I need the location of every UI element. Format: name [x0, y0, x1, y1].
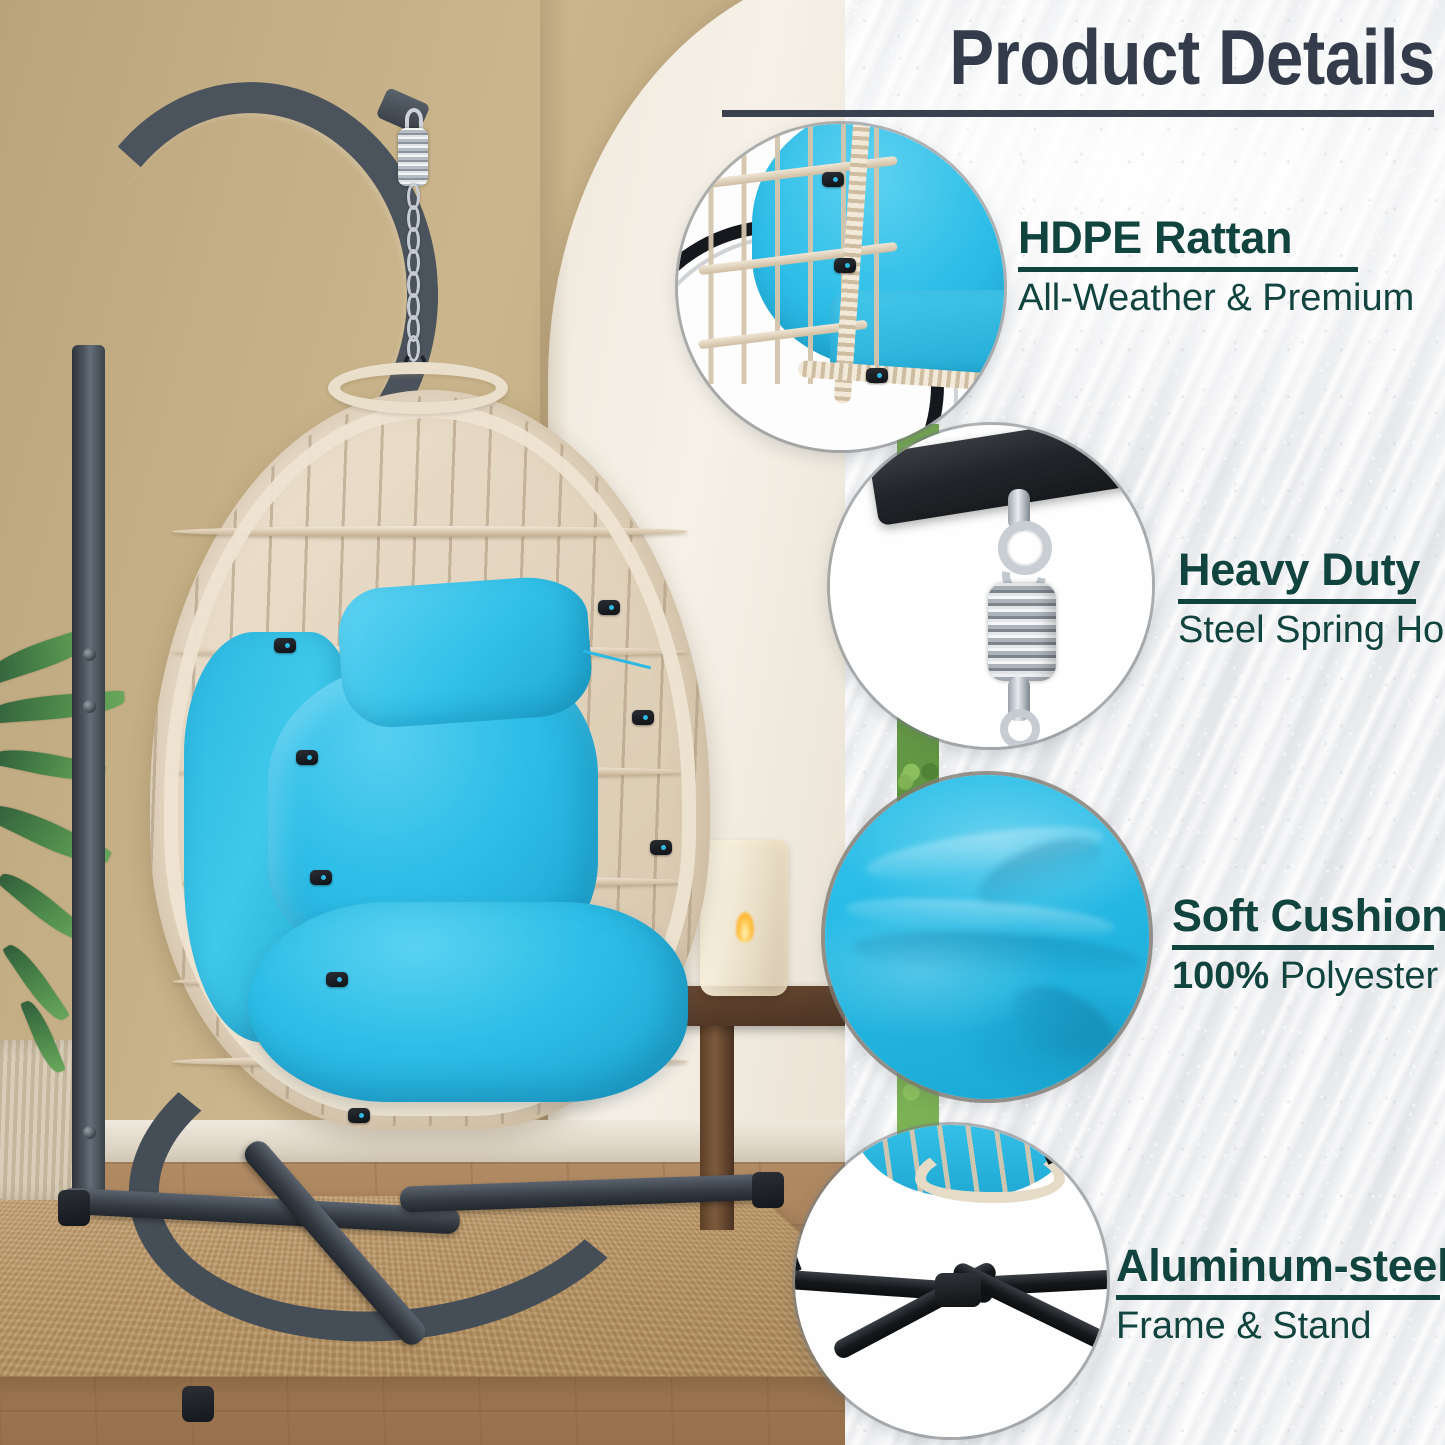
spring-icon	[988, 583, 1056, 681]
feature-text-aluminum-steel: Aluminum-steel Frame & Stand	[1116, 1242, 1445, 1347]
callout-image-aluminum-steel-frame	[795, 1125, 1107, 1437]
stand-foot	[58, 1190, 90, 1226]
feature-subtitle: Frame & Stand	[1116, 1306, 1445, 1348]
stand-foot	[182, 1386, 214, 1422]
callout-image-heavy-duty-hook	[830, 425, 1152, 747]
feature-heading: Soft Cushion	[1172, 892, 1445, 941]
feature-text-hdpe-rattan: HDPE Rattan All-Weather & Premium	[1018, 214, 1414, 319]
feature-subtitle: Steel Spring Hook	[1178, 610, 1445, 652]
chair-top-ring	[328, 362, 508, 414]
feature-text-soft-cushion: Soft Cushion 100% Polyester	[1172, 892, 1445, 997]
page-title-text: Product Details	[803, 12, 1435, 103]
stand-screw	[83, 700, 96, 713]
rattan-clip	[834, 258, 856, 273]
rattan-clip	[598, 600, 620, 615]
feature-heading: HDPE Rattan	[1018, 214, 1414, 263]
rattan-clip	[326, 972, 348, 987]
product-details-infographic: Product Details HDPE Rattan All-Weather …	[0, 0, 1445, 1445]
chain	[404, 183, 422, 361]
stand-vertical-post	[72, 345, 105, 1205]
stand-foot	[752, 1172, 784, 1208]
cushion-headrest-pillow	[335, 573, 594, 730]
feature-subtitle: 100% Polyester	[1172, 956, 1445, 998]
spring-icon	[398, 128, 428, 186]
rattan-clip	[866, 368, 888, 383]
feature-heading: Aluminum-steel	[1116, 1242, 1445, 1291]
feature-heading-underline	[1018, 267, 1358, 272]
base-center-hub	[935, 1273, 981, 1307]
callout-image-soft-cushion	[825, 775, 1149, 1099]
feature-heading: Heavy Duty	[1178, 546, 1445, 595]
feature-subtitle-rest: Polyester	[1269, 955, 1438, 997]
callout-image-hdpe-rattan	[678, 124, 1004, 450]
spring-lower-ring	[1000, 709, 1040, 747]
rattan-clip	[822, 172, 844, 187]
rattan-clip	[632, 710, 654, 725]
stand-screw	[83, 1126, 96, 1139]
candle-flame-icon	[736, 912, 754, 942]
feature-subtitle: All-Weather & Premium	[1018, 278, 1414, 320]
page-title: Product Details	[700, 12, 1435, 103]
feature-subtitle-bold: 100%	[1172, 955, 1269, 997]
feature-heading-underline	[1172, 945, 1434, 950]
rattan-clip	[274, 638, 296, 653]
feature-heading-underline	[1178, 599, 1416, 604]
page-title-underline	[722, 110, 1434, 117]
feature-heading-underline	[1116, 1295, 1440, 1300]
rattan-clip	[650, 840, 672, 855]
feature-text-heavy-duty: Heavy Duty Steel Spring Hook	[1178, 546, 1445, 651]
stand-screw	[83, 648, 96, 661]
rattan-clip	[296, 750, 318, 765]
rattan-clip	[310, 870, 332, 885]
